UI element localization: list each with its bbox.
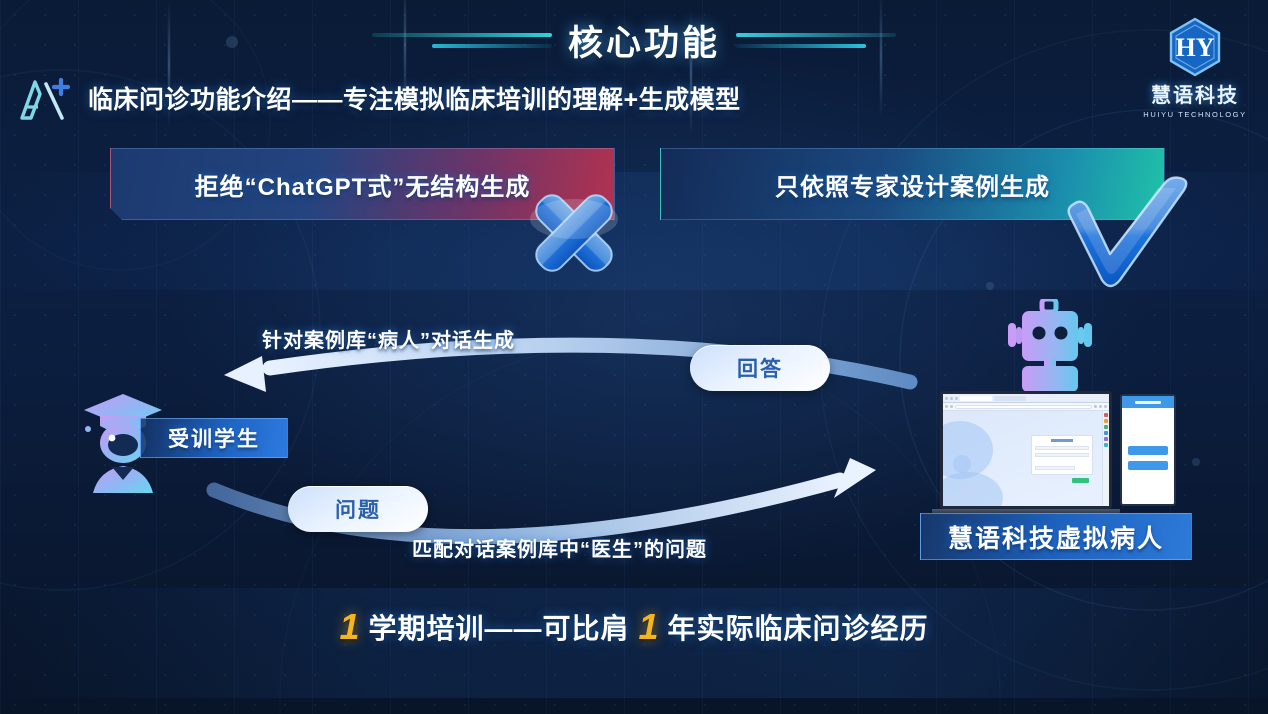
browser-viewport bbox=[943, 411, 1109, 506]
company-logo: HY 慧语科技 HUIYU TECHNOLOGY bbox=[1136, 16, 1254, 119]
banner-negative-label: 拒绝“ChatGPT式”无结构生成 bbox=[195, 167, 531, 202]
phone-mockup bbox=[1120, 394, 1176, 506]
flow-caption-top: 针对案例库“病人”对话生成 bbox=[262, 324, 515, 353]
browser-tabbar bbox=[943, 394, 1109, 403]
laptop-mockup bbox=[940, 391, 1112, 509]
phone-action-button bbox=[1128, 446, 1168, 455]
browser-toolbar bbox=[943, 403, 1109, 411]
student-label-text: 受训学生 bbox=[168, 423, 260, 453]
login-card bbox=[1031, 435, 1093, 475]
flow-caption-bottom: 匹配对话案例库中“医生”的问题 bbox=[412, 533, 707, 562]
footer-number-2: 1 bbox=[639, 606, 659, 648]
title-rule-left bbox=[372, 33, 552, 48]
page-title: 核心功能 bbox=[552, 15, 736, 66]
brand-name-en: HUIYU TECHNOLOGY bbox=[1136, 110, 1254, 119]
virtual-patient-label: 慧语科技虚拟病人 bbox=[920, 513, 1192, 560]
page-subtitle: 临床问诊功能介绍——专注模拟临床培训的理解+生成模型 bbox=[88, 80, 741, 116]
question-pill: 问题 bbox=[288, 486, 428, 532]
svg-text:HY: HY bbox=[1176, 33, 1215, 62]
check-mark-icon bbox=[1062, 176, 1192, 291]
footer-text-2: 年实际临床问诊经历 bbox=[668, 607, 929, 647]
hexagon-hy-emblem-icon: HY bbox=[1164, 16, 1226, 78]
phone-action-button bbox=[1128, 461, 1168, 470]
laptop-screen bbox=[940, 391, 1112, 509]
phone-header-bar bbox=[1122, 396, 1174, 408]
slide-title-group: 核心功能 bbox=[0, 16, 1268, 64]
subtitle-row: 临床问诊功能介绍——专注模拟临床培训的理解+生成模型 bbox=[16, 74, 741, 122]
banner-positive-label: 只依照专家设计案例生成 bbox=[775, 167, 1050, 202]
x-mark-icon bbox=[512, 178, 637, 288]
slide-canvas: 核心功能 临床问诊功能介绍——专注模拟临床培训的理解+生成模型 HY 慧语科技 … bbox=[0, 0, 1268, 714]
student-label: 受训学生 bbox=[140, 418, 288, 458]
answer-pill-label: 回答 bbox=[737, 353, 783, 383]
brand-name-cn: 慧语科技 bbox=[1136, 79, 1254, 108]
robot-icon bbox=[1000, 299, 1100, 394]
ai-plus-icon bbox=[16, 74, 78, 122]
answer-pill: 回答 bbox=[690, 345, 830, 391]
question-pill-label: 问题 bbox=[335, 494, 381, 524]
virtual-patient-label-text: 慧语科技虚拟病人 bbox=[948, 519, 1164, 555]
footer-text-1: 学期培训——可比肩 bbox=[368, 607, 629, 647]
footer-number-1: 1 bbox=[339, 606, 359, 648]
footer-tagline: 1 学期培训——可比肩 1 年实际临床问诊经历 bbox=[0, 606, 1268, 648]
title-rule-right bbox=[736, 33, 896, 48]
browser-sidebar-rail bbox=[1102, 411, 1109, 506]
